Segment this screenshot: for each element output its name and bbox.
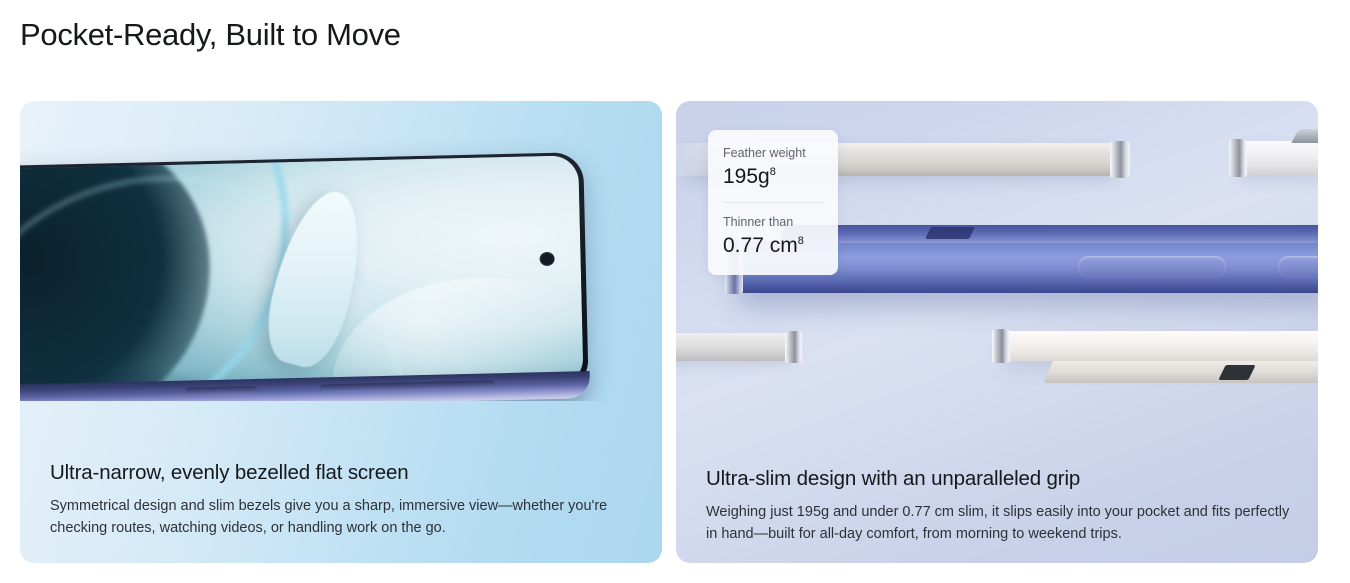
profile-end-cap bbox=[1110, 141, 1130, 178]
card-heading: Ultra-narrow, evenly bezelled flat scree… bbox=[50, 459, 636, 487]
card-body: Symmetrical design and slim bezels give … bbox=[50, 495, 636, 539]
profile-antenna-notch bbox=[925, 227, 975, 239]
stat-label: Thinner than bbox=[723, 213, 823, 231]
phone-screen bbox=[20, 155, 584, 399]
page-title: Pocket-Ready, Built to Move bbox=[20, 14, 401, 56]
phone-profile-grey-bottom-left bbox=[676, 333, 790, 361]
phone-profile-cream-bottom bbox=[1004, 331, 1318, 361]
profile-top-rail bbox=[778, 225, 1318, 243]
card-text-block: Ultra-slim design with an unparalleled g… bbox=[706, 465, 1292, 545]
volume-button bbox=[320, 380, 495, 392]
power-button bbox=[1278, 256, 1318, 278]
profile-end-cap bbox=[785, 331, 802, 363]
card-heading: Ultra-slim design with an unparalleled g… bbox=[706, 465, 1292, 493]
profile-back-plate bbox=[1043, 361, 1318, 383]
profile-end-cap bbox=[992, 329, 1010, 363]
stat-thinner-than: Thinner than 0.77 cm8 bbox=[723, 213, 823, 260]
feature-cards-row: Ultra-narrow, evenly bezelled flat scree… bbox=[20, 101, 1326, 563]
stat-divider bbox=[723, 202, 823, 203]
profile-end-cap bbox=[1229, 139, 1247, 177]
feature-section: Pocket-Ready, Built to Move bbox=[0, 0, 1350, 583]
stat-footnote-marker: 8 bbox=[798, 235, 804, 247]
stat-footnote-marker: 8 bbox=[770, 166, 776, 178]
feature-card-ultra-slim[interactable]: Feather weight 195g8 Thinner than 0.77 c… bbox=[676, 101, 1318, 563]
stat-label: Feather weight bbox=[723, 144, 823, 162]
stat-value: 195g8 bbox=[723, 163, 823, 191]
phone-profile-white-top-right bbox=[1241, 141, 1318, 175]
stat-value: 0.77 cm8 bbox=[723, 232, 823, 260]
stat-feather-weight: Feather weight 195g8 bbox=[723, 144, 823, 191]
stat-value-number: 195g bbox=[723, 165, 770, 188]
camera-bump bbox=[1291, 129, 1318, 143]
stat-value-number: 0.77 cm bbox=[723, 234, 798, 257]
card-text-block: Ultra-narrow, evenly bezelled flat scree… bbox=[50, 459, 636, 539]
feature-card-ultra-narrow[interactable]: Ultra-narrow, evenly bezelled flat scree… bbox=[20, 101, 662, 563]
volume-button bbox=[1078, 256, 1226, 278]
power-button bbox=[185, 386, 257, 396]
phone-front-device bbox=[20, 152, 589, 401]
phone-front-illustration bbox=[20, 101, 662, 401]
card-body: Weighing just 195g and under 0.77 cm sli… bbox=[706, 501, 1292, 545]
spec-stats-badge: Feather weight 195g8 Thinner than 0.77 c… bbox=[708, 130, 838, 275]
